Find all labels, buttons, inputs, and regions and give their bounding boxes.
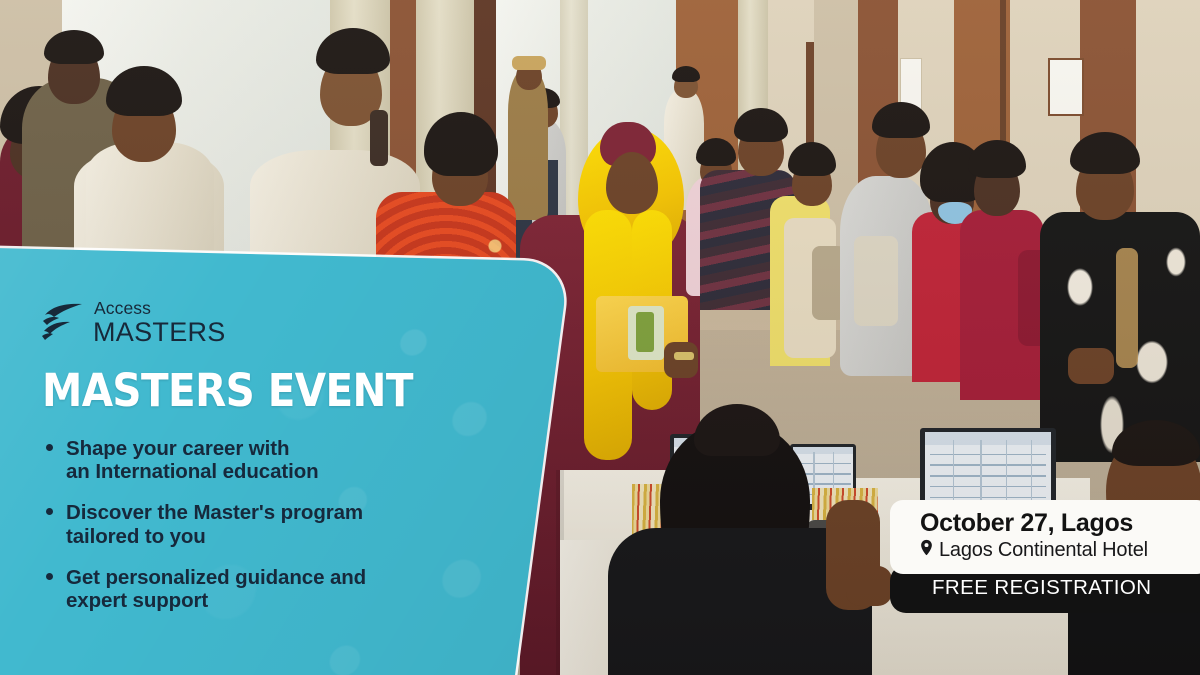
- logo-wordmark: Access MASTERS: [93, 300, 226, 346]
- map-pin-icon: [920, 539, 933, 562]
- logo-word-masters: MASTERS: [93, 319, 226, 346]
- event-venue-label: Lagos Continental Hotel: [939, 539, 1148, 562]
- headline: MASTERS EVENT: [42, 368, 472, 413]
- event-details-box: October 27, Lagos Lagos Continental Hote…: [890, 500, 1200, 574]
- event-venue: Lagos Continental Hotel: [920, 539, 1196, 562]
- event-date-location: October 27, Lagos: [920, 510, 1196, 536]
- benefits-list: Shape your career with an International …: [42, 437, 472, 614]
- list-item: Discover the Master's program tailored t…: [42, 501, 472, 549]
- free-registration-label: FREE REGISTRATION: [920, 576, 1196, 600]
- access-masters-wings-icon: [42, 303, 84, 343]
- access-masters-logo[interactable]: Access MASTERS: [42, 300, 472, 346]
- logo-word-access: Access: [93, 300, 226, 318]
- event-promo-banner: Access MASTERS MASTERS EVENT Shape your …: [0, 0, 1200, 675]
- promo-panel-content: Access MASTERS MASTERS EVENT Shape your …: [42, 300, 472, 630]
- list-item: Shape your career with an International …: [42, 437, 472, 485]
- list-item: Get personalized guidance and expert sup…: [42, 566, 472, 614]
- event-info-card: October 27, Lagos Lagos Continental Hote…: [890, 500, 1200, 613]
